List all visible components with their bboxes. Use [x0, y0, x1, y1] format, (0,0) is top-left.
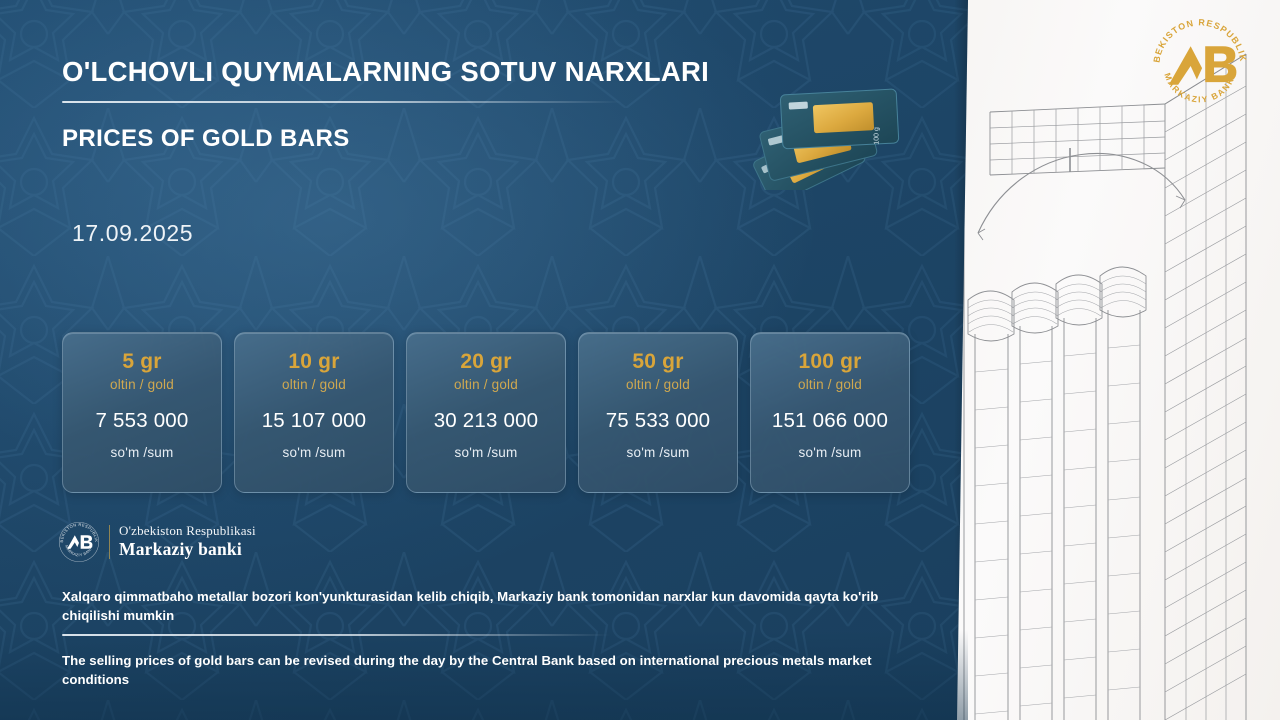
price-card-50gr[interactable]: 50 gr oltin / gold 75 533 000 so'm /sum: [578, 332, 738, 493]
gold-bars-illustration: 100 g: [752, 62, 920, 190]
card-currency: so'm /sum: [627, 445, 690, 460]
card-currency: so'm /sum: [455, 445, 518, 460]
card-metal: oltin / gold: [454, 377, 518, 392]
price-card-list: 5 gr oltin / gold 7 553 000 so'm /sum 10…: [62, 332, 910, 493]
footer-divider: [62, 634, 610, 636]
card-currency: so'm /sum: [799, 445, 862, 460]
card-metal: oltin / gold: [282, 377, 346, 392]
central-bank-logo: O'ZBEKISTON RESPUBLIKASI MARKAZIY BANKI …: [58, 521, 256, 563]
logo-divider: [109, 525, 110, 559]
svg-text:O'ZBEKISTON RESPUBLIKASI: O'ZBEKISTON RESPUBLIKASI: [58, 521, 99, 543]
card-price: 30 213 000: [434, 409, 539, 433]
card-currency: so'm /sum: [111, 445, 174, 460]
card-price: 15 107 000: [262, 409, 367, 433]
price-card-20gr[interactable]: 20 gr oltin / gold 30 213 000 so'm /sum: [406, 332, 566, 493]
card-metal: oltin / gold: [626, 377, 690, 392]
logo-line-bank: Markaziy banki: [119, 539, 256, 559]
card-price: 7 553 000: [96, 409, 189, 433]
card-currency: so'm /sum: [283, 445, 346, 460]
gold-bar-weight-label: 100 g: [873, 127, 880, 145]
card-weight: 100 gr: [798, 350, 861, 374]
card-metal: oltin / gold: [798, 377, 862, 392]
title-divider: [62, 101, 622, 103]
price-card-10gr[interactable]: 10 gr oltin / gold 15 107 000 so'm /sum: [234, 332, 394, 493]
logo-line-country: O'zbekiston Respublikasi: [119, 524, 256, 539]
card-price: 75 533 000: [606, 409, 711, 433]
gold-price-poster: O'LCHOVLI QUYMALARNING SOTUV NARXLARI PR…: [0, 0, 1280, 720]
card-price: 151 066 000: [772, 409, 888, 433]
disclaimer-uz: Xalqaro qimmatbaho metallar bozori kon'y…: [62, 587, 897, 625]
page-title-en: PRICES OF GOLD BARS: [62, 125, 350, 153]
disclaimer-en: The selling prices of gold bars can be r…: [62, 651, 897, 689]
bank-emblem-gold-icon: O'ZBEKISTON RESPUBLIKASI MARKAZIY BANKI: [1148, 14, 1252, 118]
price-date: 17.09.2025: [72, 220, 193, 247]
poster-content: O'LCHOVLI QUYMALARNING SOTUV NARXLARI PR…: [0, 0, 1280, 720]
card-weight: 5 gr: [122, 350, 161, 374]
price-card-5gr[interactable]: 5 gr oltin / gold 7 553 000 so'm /sum: [62, 332, 222, 493]
price-card-100gr[interactable]: 100 gr oltin / gold 151 066 000 so'm /su…: [750, 332, 910, 493]
card-weight: 20 gr: [460, 350, 511, 374]
bank-emblem-icon: O'ZBEKISTON RESPUBLIKASI MARKAZIY BANKI: [58, 521, 100, 563]
card-weight: 10 gr: [288, 350, 339, 374]
page-title-uz: O'LCHOVLI QUYMALARNING SOTUV NARXLARI: [62, 56, 709, 88]
logo-text-block: O'zbekiston Respublikasi Markaziy banki: [119, 524, 256, 559]
card-metal: oltin / gold: [110, 377, 174, 392]
card-weight: 50 gr: [632, 350, 683, 374]
